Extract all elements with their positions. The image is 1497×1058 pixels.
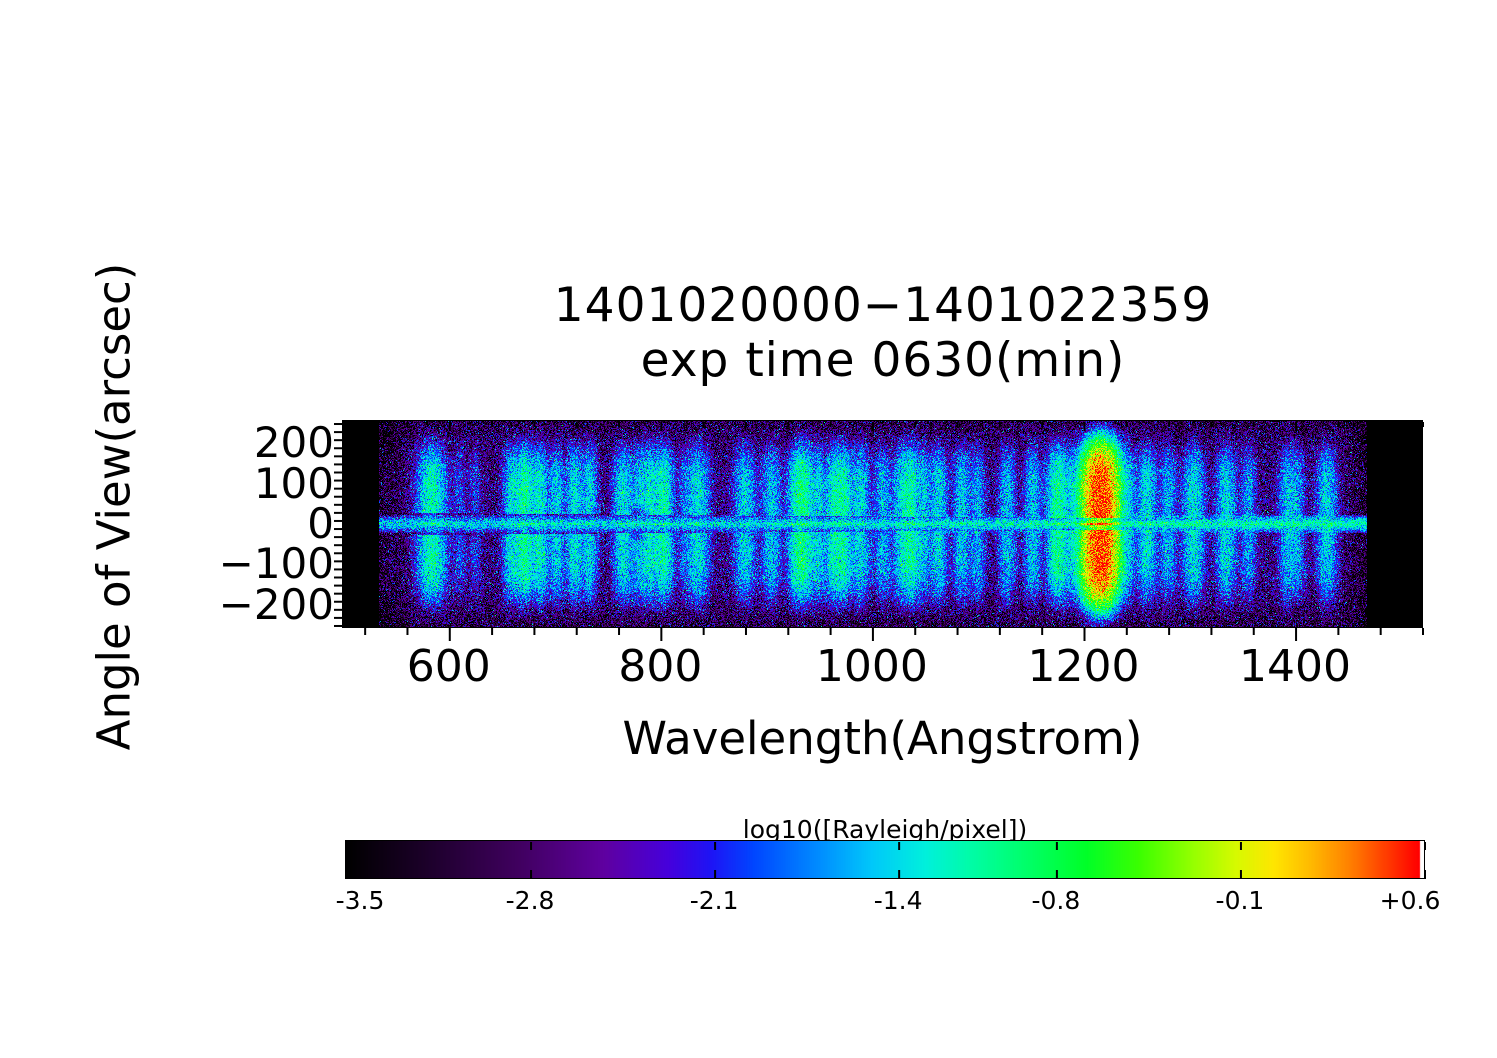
title-line-observation: 1401020000−1401022359 [342,278,1424,333]
colorbar-tick-label: -0.8 [1032,888,1081,913]
colorbar-tick-label: -0.1 [1216,888,1265,913]
title-line-exposure: exp time 0630(min) [342,333,1424,388]
colorbar-tick-label: -2.8 [506,888,555,913]
x-tick-label: 1400 [1239,645,1351,689]
y-tick-label: −200 [219,584,334,626]
y-axis-title: Angle of View(arcsec) [88,227,141,787]
x-tick-label: 800 [618,645,702,689]
colorbar-tick-label: -3.5 [336,888,385,913]
x-tick-label: 600 [407,645,491,689]
colorbar-tick-label: -1.4 [874,888,923,913]
x-axis-title: Wavelength(Angstrom) [342,712,1423,765]
colorbar-gradient [346,841,1424,878]
colorbar-tick-label: -2.1 [690,888,739,913]
colorbar [345,840,1425,879]
colorbar-tick-label: +0.6 [1380,888,1441,913]
x-tick-label: 1200 [1027,645,1139,689]
spectrogram-image [343,421,1422,627]
figure-title: 1401020000−1401022359 exp time 0630(min) [342,278,1424,388]
figure-root: 1401020000−1401022359 exp time 0630(min)… [0,0,1497,1058]
spectrogram-panel [342,420,1423,628]
x-tick-label: 1000 [816,645,928,689]
